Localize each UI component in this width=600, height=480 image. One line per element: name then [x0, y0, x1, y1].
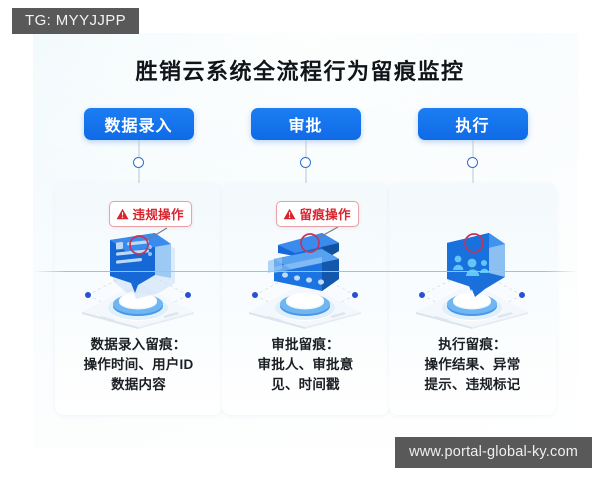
- caption-line: 操作结果、异常: [395, 355, 550, 375]
- status-badge-label-0: 违规操作: [133, 204, 184, 223]
- stage-caption-2: 执行留痕： 操作结果、异常 提示、违规标记: [395, 335, 550, 395]
- stage-column-0: 数据录入 违规操作: [55, 108, 222, 140]
- isometric-server-stack-icon: [222, 223, 389, 333]
- stage-caption-0: 数据录入留痕： 操作时间、用户ID 数据内容: [61, 335, 216, 395]
- status-badge-label-1: 留痕操作: [300, 204, 351, 223]
- stage-column-2: 执行: [389, 108, 556, 140]
- stage-card-2[interactable]: 执行留痕： 操作结果、异常 提示、违规标记: [389, 183, 556, 415]
- caption-line: 提示、违规标记: [395, 375, 550, 395]
- caption-line: 执行留痕：: [395, 335, 550, 355]
- timeline-node-2: [467, 157, 478, 168]
- stage-pill-1[interactable]: 审批: [251, 108, 361, 140]
- status-badge-1: 留痕操作: [276, 201, 359, 227]
- caption-line: 见、时间戳: [228, 375, 383, 395]
- page-title: 胜销云系统全流程行为留痕监控: [0, 54, 600, 86]
- timeline-node-1: [300, 157, 311, 168]
- warning-triangle-icon: [116, 208, 129, 220]
- stage-columns: 数据录入 违规操作: [33, 108, 578, 428]
- stage-column-1: 审批 留痕操作: [222, 108, 389, 140]
- isometric-users-card-icon: [389, 223, 556, 333]
- stage-pill-0[interactable]: 数据录入: [84, 108, 194, 140]
- stage-caption-1: 审批留痕： 审批人、审批意 见、时间戳: [228, 335, 383, 395]
- timeline-axis: [33, 271, 578, 272]
- stage-card-0[interactable]: 违规操作: [55, 183, 222, 415]
- caption-line: 审批留痕：: [228, 335, 383, 355]
- caption-line: 数据内容: [61, 375, 216, 395]
- infographic-root: TG: MYYJJPP 胜销云系统全流程行为留痕监控 数据录入 违规操作: [0, 0, 600, 480]
- stage-card-1[interactable]: 留痕操作: [222, 183, 389, 415]
- status-badge-0: 违规操作: [109, 201, 192, 227]
- caption-line: 操作时间、用户ID: [61, 355, 216, 375]
- isometric-document-form-icon: [55, 223, 222, 333]
- tg-tag-banner: TG: MYYJJPP: [12, 8, 139, 34]
- caption-line: 审批人、审批意: [228, 355, 383, 375]
- warning-triangle-icon: [283, 208, 296, 220]
- site-watermark: www.portal-global-ky.com: [395, 437, 592, 468]
- caption-line: 数据录入留痕：: [61, 335, 216, 355]
- stage-pill-2[interactable]: 执行: [418, 108, 528, 140]
- timeline-node-0: [133, 157, 144, 168]
